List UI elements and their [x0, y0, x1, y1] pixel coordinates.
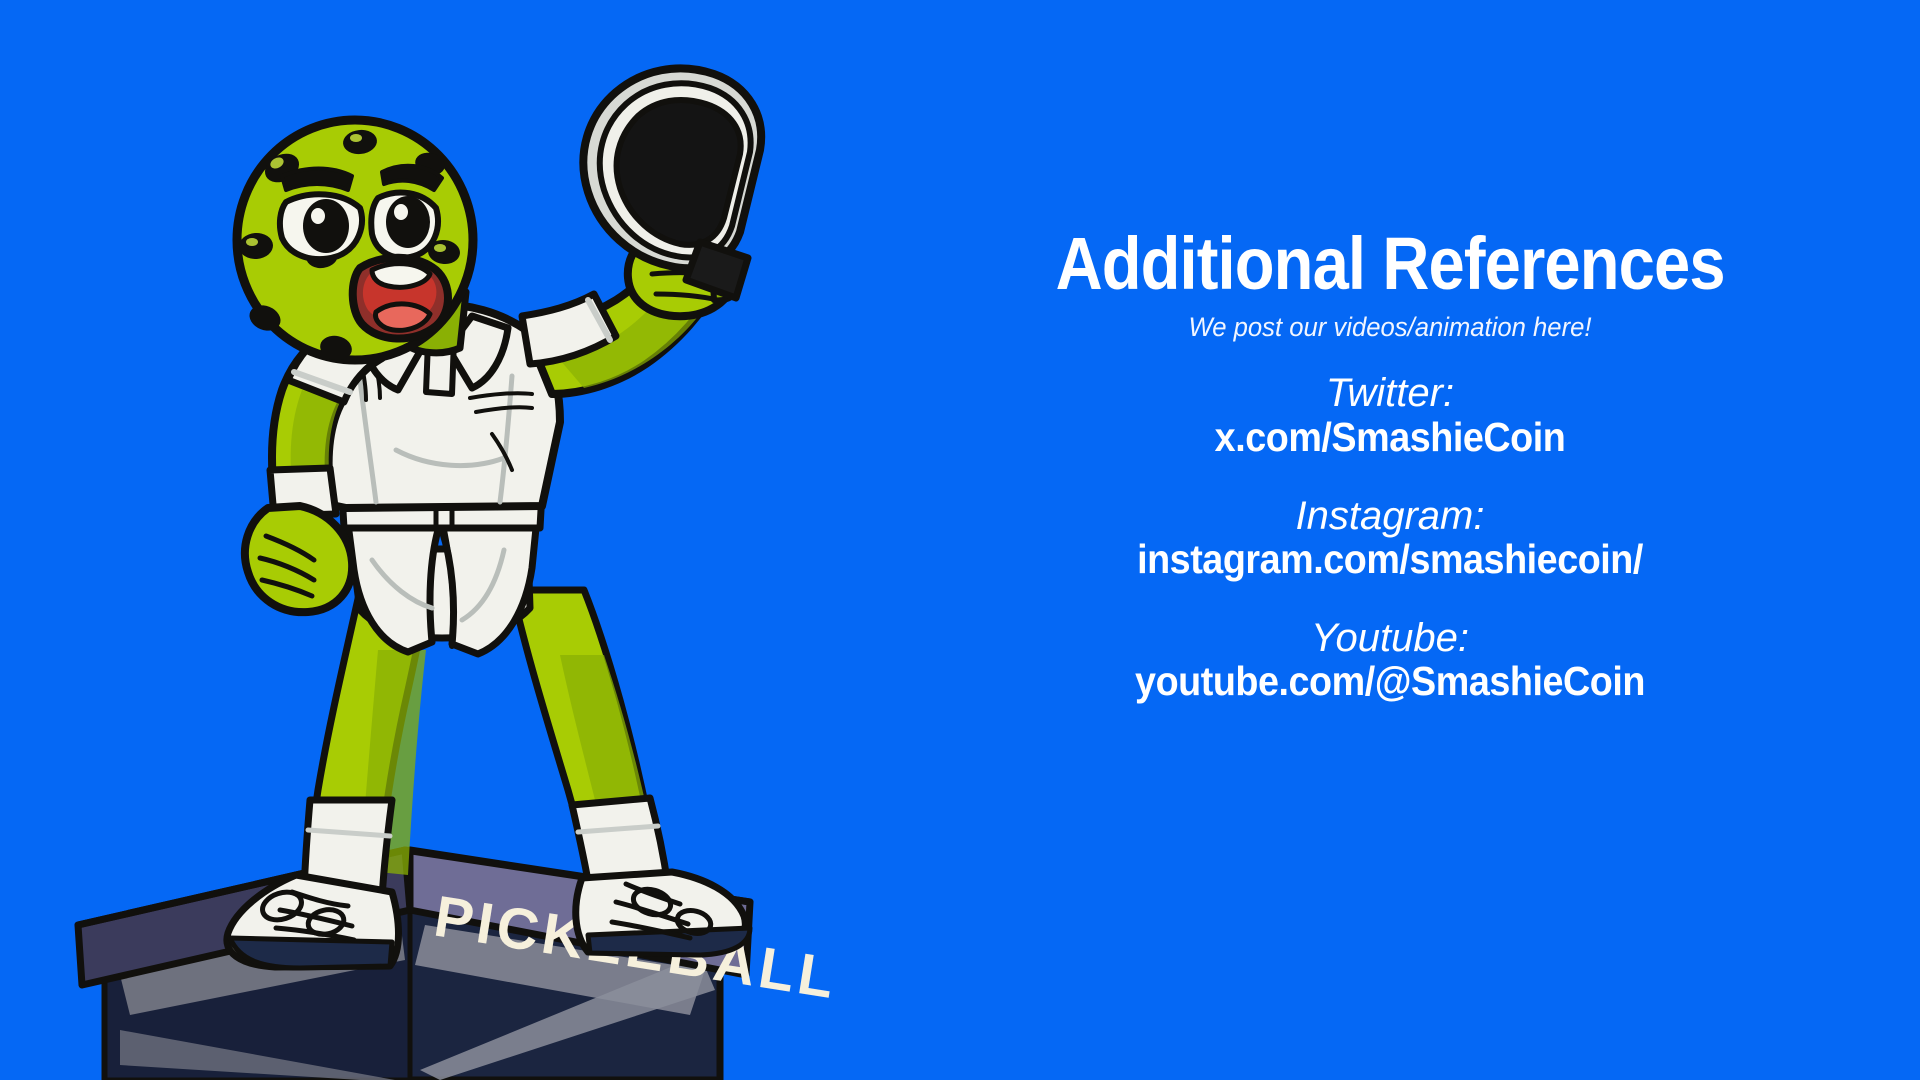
slide-canvas: PICKLEBALL [0, 0, 1920, 1080]
paddle [583, 68, 761, 298]
youtube-url[interactable]: youtube.com/@SmashieCoin [1040, 659, 1739, 705]
mascot-illustration: PICKLEBALL [60, 30, 880, 1080]
twitter-url[interactable]: x.com/SmashieCoin [1040, 415, 1739, 461]
instagram-label: Instagram: [1010, 495, 1770, 537]
tongue [375, 304, 430, 330]
teeth [372, 264, 430, 288]
link-group-twitter: Twitter: x.com/SmashieCoin [1010, 372, 1770, 460]
instagram-url[interactable]: instagram.com/smashiecoin/ [1040, 537, 1739, 583]
link-group-youtube: Youtube: youtube.com/@SmashieCoin [1010, 617, 1770, 705]
link-group-instagram: Instagram: instagram.com/smashiecoin/ [1010, 495, 1770, 583]
podium: PICKLEBALL [78, 850, 842, 1080]
twitter-label: Twitter: [1010, 372, 1770, 414]
page-title: Additional References [1056, 228, 1725, 301]
references-panel: Additional References We post our videos… [1010, 228, 1770, 705]
page-subtitle: We post our videos/animation here! [1029, 313, 1751, 343]
youtube-label: Youtube: [1010, 617, 1770, 659]
